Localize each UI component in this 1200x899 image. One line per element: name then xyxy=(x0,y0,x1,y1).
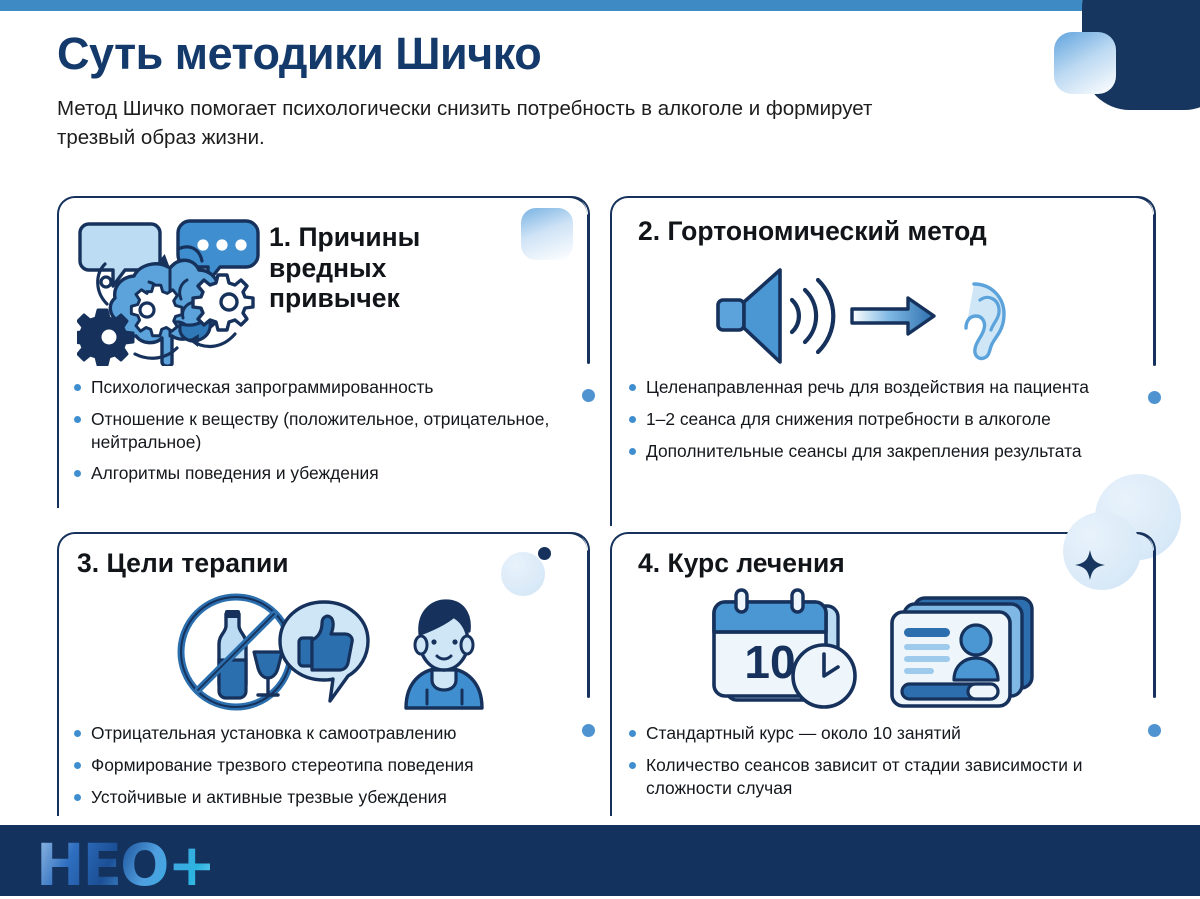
list-item: Количество сеансов зависит от стадии зав… xyxy=(628,754,1138,800)
card-causes-of-bad-habits: 1. Причины вредных привычек Психологичес… xyxy=(57,196,587,508)
card-border-dot xyxy=(1148,391,1161,404)
calendar-day-number: 10 xyxy=(744,636,795,688)
card-title: 3. Цели терапии xyxy=(77,548,289,579)
card-navy-dot-decoration xyxy=(538,547,551,560)
card-title: 4. Курс лечения xyxy=(638,548,845,579)
card-corner xyxy=(1136,196,1156,216)
page-subtitle: Метод Шичко помогает психологически сниз… xyxy=(57,94,887,152)
card-bullet-list: Целенаправленная речь для воздействия на… xyxy=(628,376,1133,471)
card-corner xyxy=(1136,532,1156,552)
card-bullet-list: Отрицательная установка к самоотравлению… xyxy=(73,722,593,817)
list-item: Психологическая запрограммированность xyxy=(73,376,573,399)
card-border-dot xyxy=(1148,724,1161,737)
top-accent-bar xyxy=(0,0,1200,11)
card-treatment-course: 4. Курс лечения 10 xyxy=(610,532,1153,816)
card-right-border-segment xyxy=(1153,214,1156,366)
card-right-border-segment xyxy=(587,214,590,364)
list-item: Отрицательная установка к самоотравлению xyxy=(73,722,593,745)
card-hortonomic-method: 2. Гортономический метод xyxy=(610,196,1153,526)
calendar-clock-idcards-icon: 10 xyxy=(702,588,1052,721)
footer-bar: НЕО+ xyxy=(0,825,1200,896)
card-bullet-list: Психологическая запрограммированность От… xyxy=(73,376,573,494)
list-item: Алгоритмы поведения и убеждения xyxy=(73,462,573,485)
card-therapy-goals: 3. Цели терапии xyxy=(57,532,587,816)
page-title: Суть методики Шичко xyxy=(57,30,1057,77)
card-title: 1. Причины вредных привычек xyxy=(269,222,519,314)
brain-gears-speech-bubbles-icon xyxy=(77,214,267,371)
card-corner xyxy=(570,532,590,552)
no-alcohol-thumbsup-person-icon xyxy=(174,590,504,720)
card-circle-decoration xyxy=(501,552,545,596)
list-item: 1–2 сеанса для снижения потребности в ал… xyxy=(628,408,1133,431)
list-item: Стандартный курс — около 10 занятий xyxy=(628,722,1138,745)
list-item: Устойчивые и активные трезвые убеждения xyxy=(73,786,593,809)
card-right-border-segment xyxy=(1153,550,1156,698)
cards-grid: 1. Причины вредных привычек Психологичес… xyxy=(57,196,1153,816)
list-item: Отношение к веществу (положительное, отр… xyxy=(73,408,573,454)
list-item: Дополнительные сеансы для закрепления ре… xyxy=(628,440,1133,463)
sparkle-icon xyxy=(1075,550,1105,585)
list-item: Формирование трезвого стереотипа поведен… xyxy=(73,754,593,777)
speaker-soundwave-arrow-ear-icon xyxy=(712,266,1042,371)
card-right-border-segment xyxy=(587,550,590,698)
brand-logo: НЕО+ xyxy=(36,831,214,899)
light-blue-square-decoration xyxy=(1054,32,1116,94)
card-bullet-list: Стандартный курс — около 10 занятий Коли… xyxy=(628,722,1138,808)
card-title: 2. Гортономический метод xyxy=(638,216,987,247)
list-item: Целенаправленная речь для воздействия на… xyxy=(628,376,1133,399)
header: Суть методики Шичко Метод Шичко помогает… xyxy=(57,30,1057,152)
